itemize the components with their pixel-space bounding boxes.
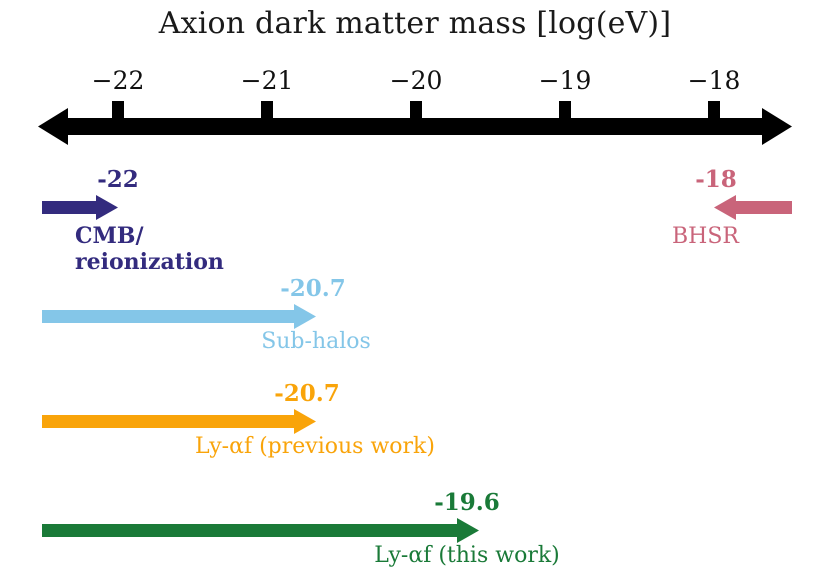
axis-tick-minus20	[410, 101, 422, 123]
axion-mass-constraint-figure: Axion dark matter mass [log(eV)] −22 −21…	[0, 0, 830, 581]
caption-sub-halos: Sub-halos	[261, 329, 371, 354]
axis-tick-minus18	[708, 101, 720, 123]
value-label-cmb-reionization: -22	[97, 166, 139, 193]
lyaf-this-work-arrow-shaft	[42, 524, 459, 537]
figure-graphics-layer	[0, 0, 830, 581]
lyaf-this-work-arrow-head	[457, 518, 479, 543]
value-label-sub-halos: -20.7	[280, 275, 346, 302]
axis-tick-minus22	[112, 101, 124, 123]
sub-halos-arrow-shaft	[42, 310, 296, 323]
constraint-arrow-bhsr	[714, 195, 792, 220]
cmb-arrow-head	[96, 195, 118, 220]
caption-cmb-reionization: CMB/ reionization	[75, 224, 224, 276]
value-label-lyaf-this-work: -19.6	[434, 489, 500, 516]
bhsr-arrow-shaft	[736, 201, 792, 214]
axis-tick-minus19	[559, 101, 571, 123]
constraint-arrow-lyaf-previous-work	[42, 409, 316, 434]
caption-bhsr: BHSR	[672, 224, 739, 249]
caption-cmb-reionization-line1: CMB/	[75, 224, 224, 250]
caption-lyaf-previous-work: Ly-αf (previous work)	[195, 434, 435, 459]
constraint-arrow-sub-halos	[42, 304, 316, 329]
constraint-arrow-lyaf-this-work	[42, 518, 479, 543]
value-label-bhsr: -18	[695, 166, 737, 193]
axis-left-arrowhead	[38, 108, 68, 145]
value-label-lyaf-previous-work: -20.7	[274, 380, 340, 407]
sub-halos-arrow-head	[294, 304, 316, 329]
lyaf-previous-arrow-shaft	[42, 415, 296, 428]
lyaf-previous-arrow-head	[294, 409, 316, 434]
axis-right-arrowhead	[762, 108, 792, 145]
axis-tick-minus21	[261, 101, 273, 123]
axis-group	[38, 101, 792, 145]
cmb-arrow-shaft	[42, 201, 98, 214]
caption-cmb-reionization-line2: reionization	[75, 250, 224, 276]
constraint-arrow-cmb-reionization	[42, 195, 118, 220]
caption-lyaf-this-work: Ly-αf (this work)	[374, 543, 560, 568]
bhsr-arrow-head	[714, 195, 736, 220]
